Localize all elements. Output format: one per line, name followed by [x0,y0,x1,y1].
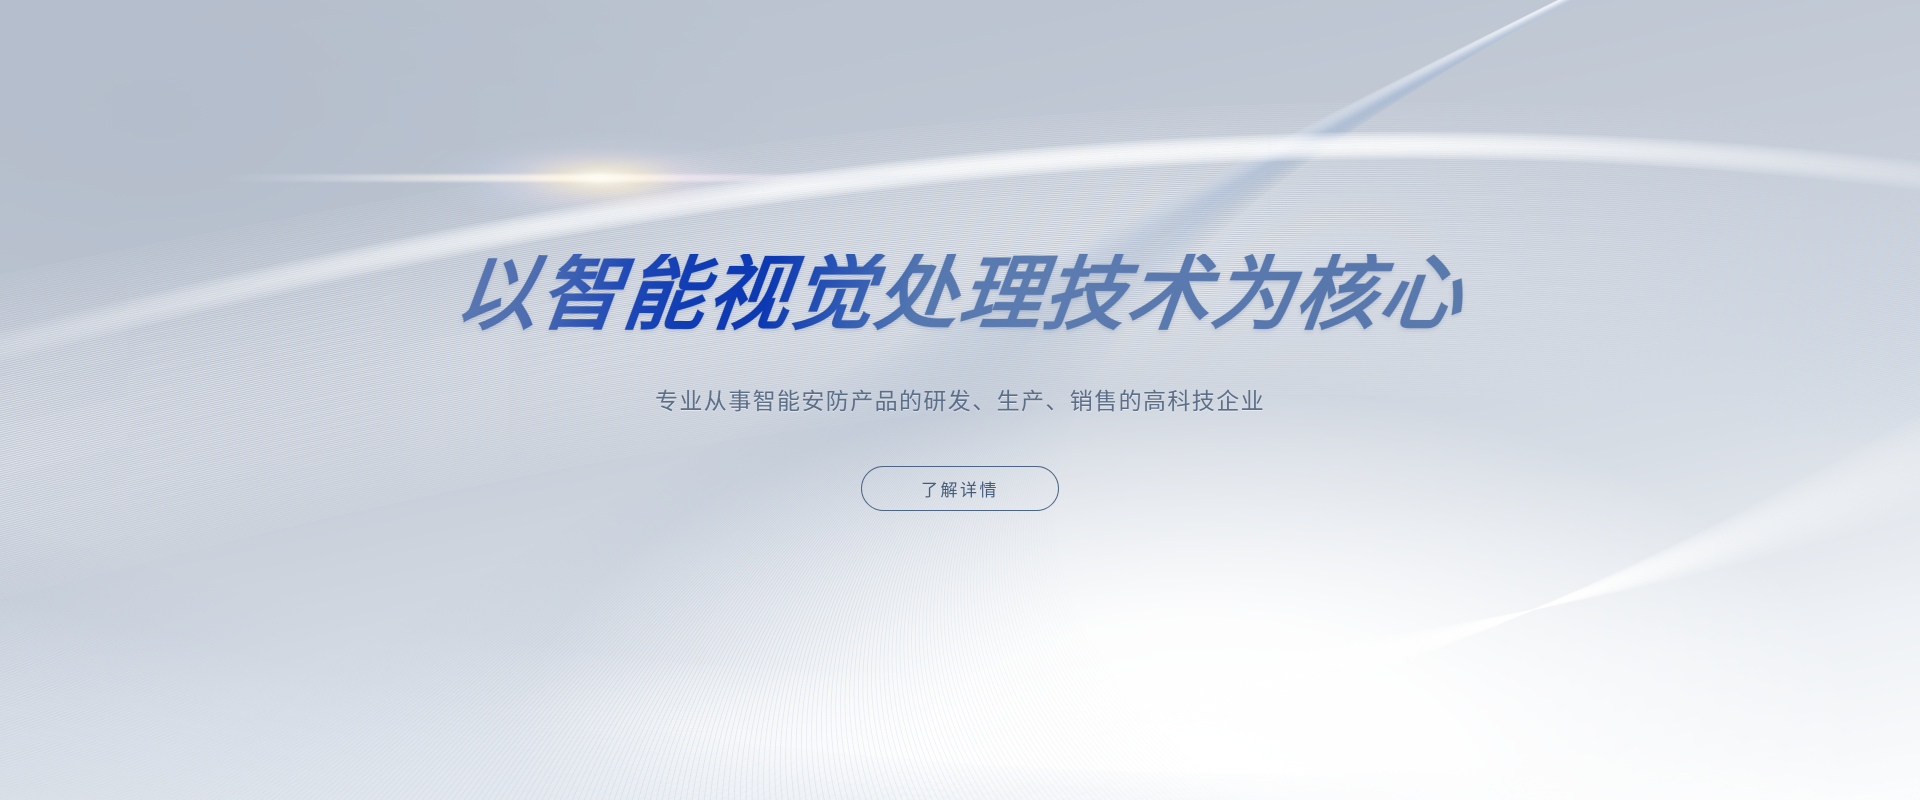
hero-subtitle: 专业从事智能安防产品的研发、生产、销售的高科技企业 [655,382,1265,416]
learn-more-button[interactable]: 了解详情 [861,466,1059,511]
hero-banner: 以智能视觉处理技术为核心 专业从事智能安防产品的研发、生产、销售的高科技企业 了… [0,0,1920,800]
hero-content: 以智能视觉处理技术为核心 专业从事智能安防产品的研发、生产、销售的高科技企业 了… [0,0,1920,800]
page-title: 以智能视觉处理技术为核心 [451,254,1469,336]
